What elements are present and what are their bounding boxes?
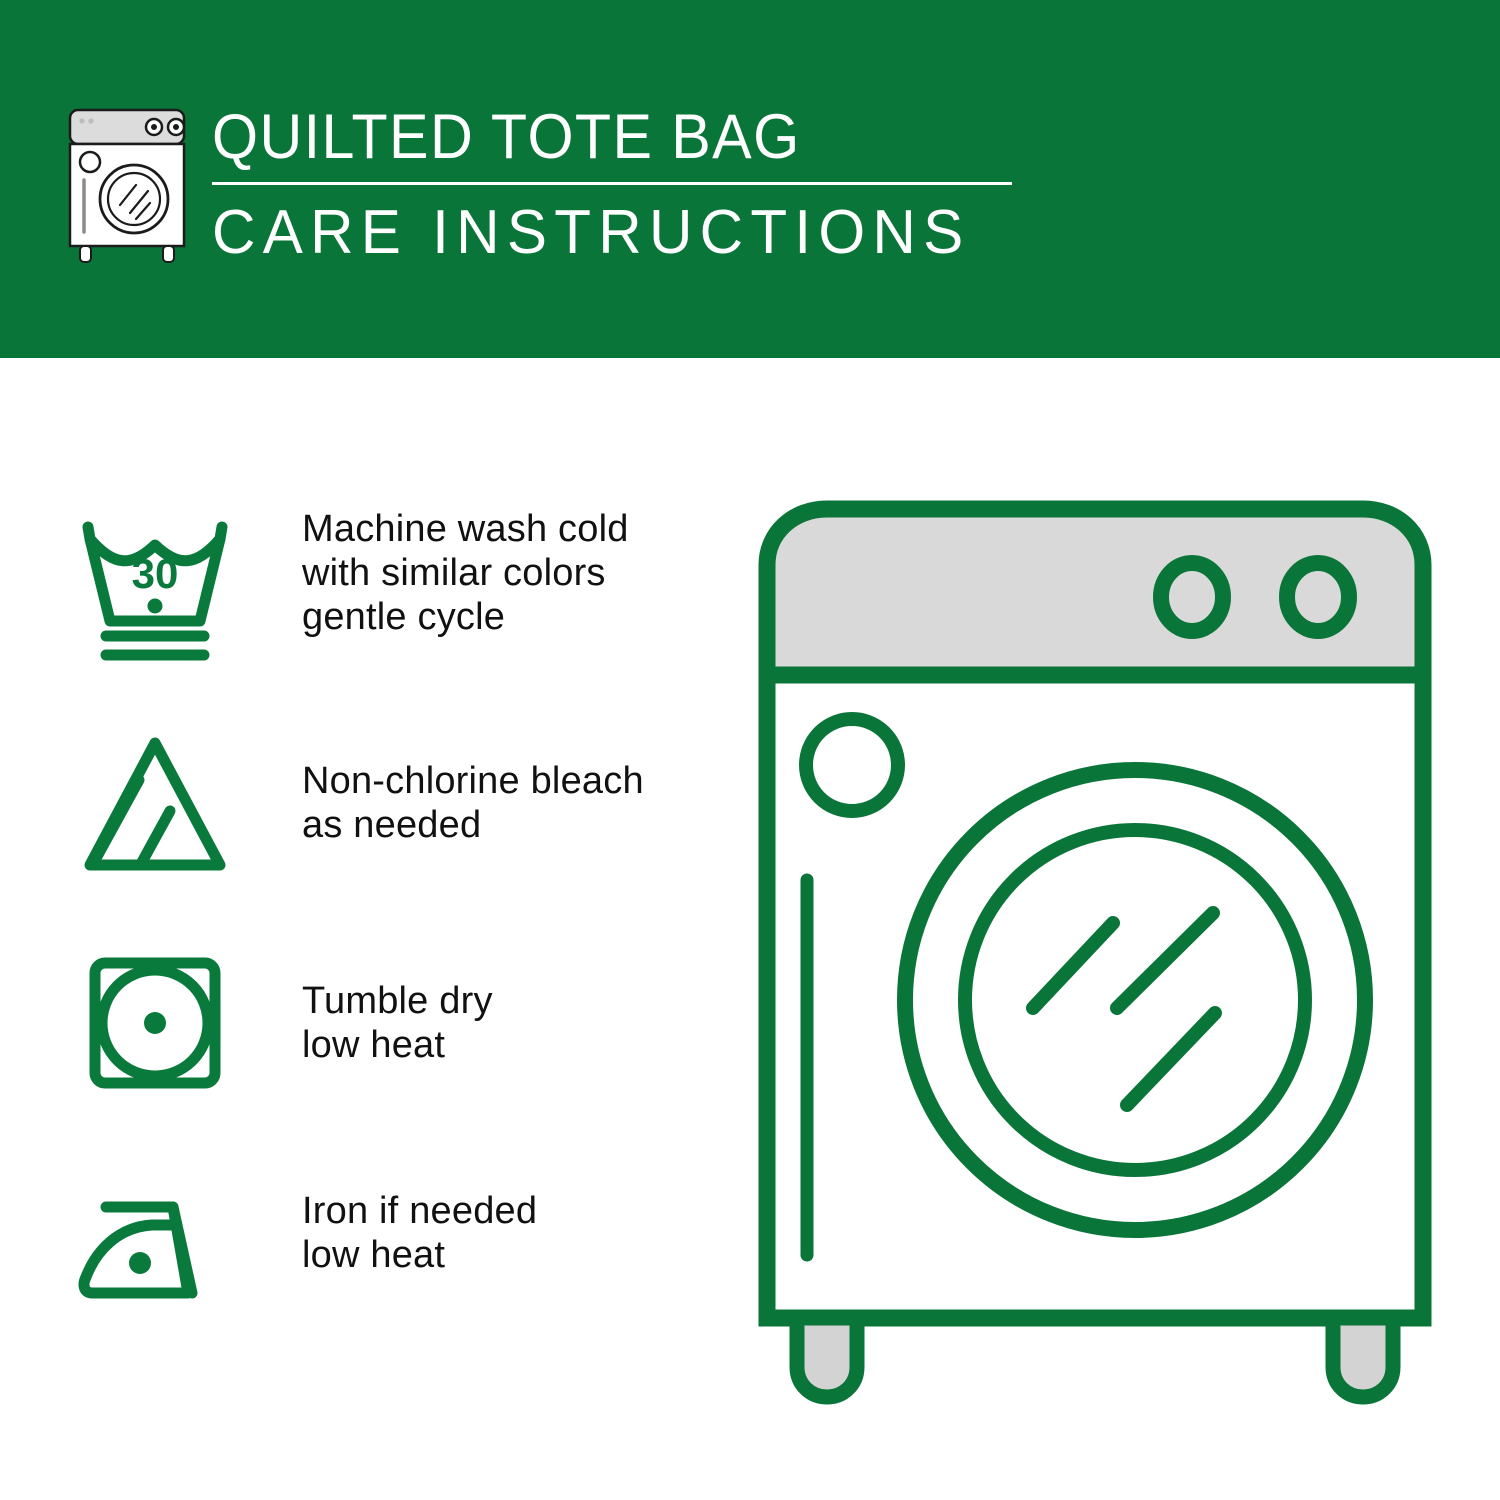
care-text-line: Machine wash cold <box>302 507 710 551</box>
care-text-line: as needed <box>302 803 710 847</box>
care-text-line: gentle cycle <box>302 595 710 639</box>
knob-right <box>1287 563 1349 631</box>
care-item-bleach-text: Non-chlorine bleach as needed <box>302 725 710 847</box>
wash-temperature-value: 30 <box>132 550 179 597</box>
knob-left <box>1161 563 1223 631</box>
detergent-dispenser-ring <box>806 719 898 811</box>
header-titles: QUILTED TOTE BAG CARE INSTRUCTIONS <box>212 100 1062 267</box>
leg-right <box>1333 1318 1393 1397</box>
care-item-tumble-dry-text: Tumble dry low heat <box>302 945 710 1067</box>
care-item-tumble-dry: Tumble dry low heat <box>70 945 710 1105</box>
machine-wash-30-gentle-symbol: 30 <box>70 505 240 665</box>
care-text-line: low heat <box>302 1023 710 1067</box>
care-item-wash: 30 Machine wash cold with similar colors… <box>70 505 710 665</box>
care-instruction-list: 30 Machine wash cold with similar colors… <box>70 505 710 1325</box>
care-text-line: low heat <box>302 1233 710 1277</box>
care-text-line: Tumble dry <box>302 979 710 1023</box>
care-item-bleach: Non-chlorine bleach as needed <box>70 725 710 885</box>
care-item-iron-text: Iron if needed low heat <box>302 1165 710 1277</box>
front-load-washing-machine-illustration <box>745 495 1445 1425</box>
header-band: QUILTED TOTE BAG CARE INSTRUCTIONS <box>0 0 1500 358</box>
title-divider <box>212 182 1012 185</box>
care-text-line: Non-chlorine bleach <box>302 759 710 803</box>
care-item-iron: Iron if needed low heat <box>70 1165 710 1325</box>
page-title: QUILTED TOTE BAG <box>212 102 1011 172</box>
care-text-line: Iron if needed <box>302 1189 710 1233</box>
tumble-dry-low-symbol <box>70 945 240 1105</box>
header-content: QUILTED TOTE BAG CARE INSTRUCTIONS <box>62 100 1062 280</box>
care-item-wash-text: Machine wash cold with similar colors ge… <box>302 505 710 639</box>
washing-machine-icon <box>62 106 192 266</box>
page-subtitle: CARE INSTRUCTIONS <box>212 199 1037 267</box>
leg-left <box>797 1318 857 1397</box>
care-text-line: with similar colors <box>302 551 710 595</box>
non-chlorine-bleach-symbol <box>70 725 240 885</box>
iron-low-heat-symbol <box>70 1165 240 1325</box>
